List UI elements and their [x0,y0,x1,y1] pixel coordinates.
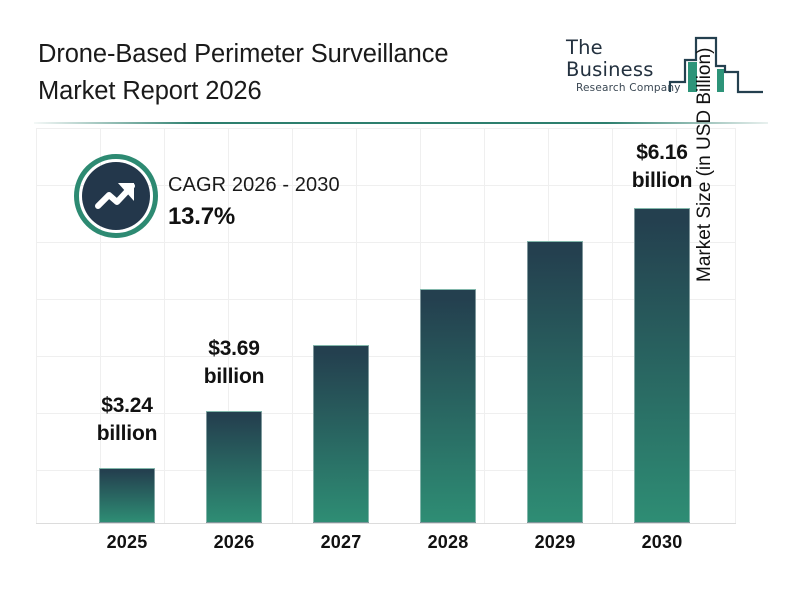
bar-chart-logo-mark [668,32,765,98]
gridline-horizontal [36,299,736,300]
xtick-2029: 2029 [500,532,610,553]
cagr-text: CAGR 2026 - 2030 13.7% [168,170,468,234]
bar-2025[interactable] [99,468,155,523]
gridline-vertical [735,128,736,524]
header-divider [34,122,768,124]
y-axis-title: Market Size (in USD Billion) [694,0,716,282]
cagr-period-label: CAGR 2026 - 2030 [168,170,468,200]
gridline-vertical [36,128,37,524]
header: Drone-Based Perimeter Surveillance Marke… [0,0,800,124]
xtick-2028: 2028 [393,532,503,553]
page-title: Drone-Based Perimeter Surveillance Marke… [38,36,538,110]
axis-baseline [36,523,736,524]
cagr-value-label: 13.7% [168,200,468,234]
cagr-badge [74,154,158,238]
chart-page: Drone-Based Perimeter Surveillance Marke… [0,0,800,600]
value-label-2026: $3.69 billion [174,335,294,391]
trending-up-arrow-icon [82,162,150,230]
gridline-vertical [484,128,485,524]
bar-2029[interactable] [527,241,583,523]
bar-2028[interactable] [420,289,476,523]
bar-2030[interactable] [634,208,690,523]
bar-2027[interactable] [313,345,369,523]
gridline-horizontal [36,128,736,129]
xtick-2025: 2025 [72,532,182,553]
gridline-horizontal [36,356,736,357]
gridline-horizontal [36,242,736,243]
xtick-2026: 2026 [179,532,289,553]
value-label-2025: $3.24 billion [67,392,187,448]
xtick-2030: 2030 [607,532,717,553]
company-logo: The Business Research Company [560,32,765,98]
gridline-vertical [164,128,165,524]
bar-2026[interactable] [206,411,262,523]
xtick-2027: 2027 [286,532,396,553]
